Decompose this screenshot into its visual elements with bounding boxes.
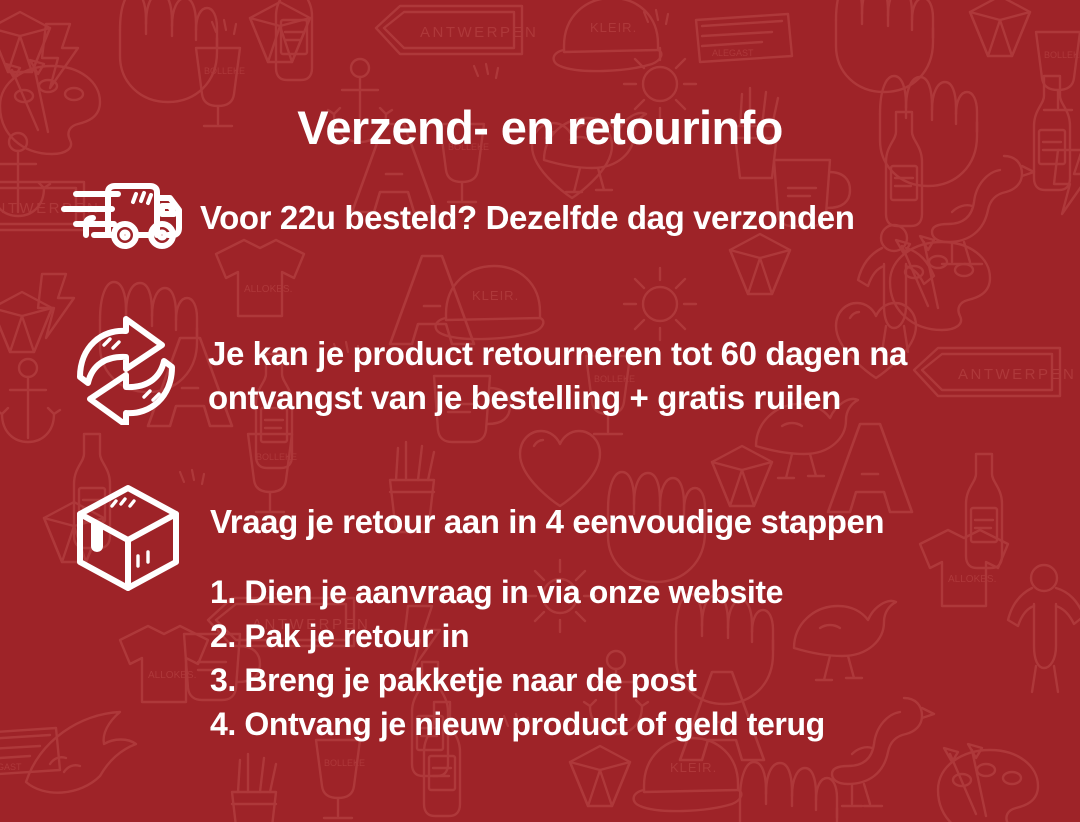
return-steps-list: 1. Dien je aanvraag in via onze website … — [210, 570, 884, 746]
list-item: 1. Dien je aanvraag in via onze website — [210, 570, 884, 614]
return-policy-line-1: Je kan je product retourneren tot 60 dag… — [208, 332, 907, 376]
return-policy-line-2: ontvangst van je bestelling + gratis rui… — [208, 376, 907, 420]
shipping-info-row: Voor 22u besteld? Dezelfde dag verzonden — [56, 178, 855, 250]
list-item: 2. Pak je retour in — [210, 614, 884, 658]
return-steps-heading: Vraag je retour aan in 4 eenvoudige stap… — [210, 482, 884, 544]
return-policy-row: Je kan je product retourneren tot 60 dag… — [56, 312, 907, 428]
delivery-truck-icon — [56, 178, 186, 250]
package-box-icon — [56, 482, 190, 594]
list-item: 3. Breng je pakketje naar de post — [210, 658, 884, 702]
return-steps-row: Vraag je retour aan in 4 eenvoudige stap… — [56, 482, 884, 746]
list-item: 4. Ontvang je nieuw product of geld teru… — [210, 702, 884, 746]
return-exchange-arrows-icon — [56, 312, 188, 428]
shipping-info-text: Voor 22u besteld? Dezelfde dag verzonden — [200, 178, 855, 240]
shipping-returns-banner: ANTWERPEN KLEIR. BOLLEKE — [0, 0, 1080, 822]
return-policy-text: Je kan je product retourneren tot 60 dag… — [208, 312, 907, 420]
page-title: Verzend- en retourinfo — [0, 103, 1080, 152]
